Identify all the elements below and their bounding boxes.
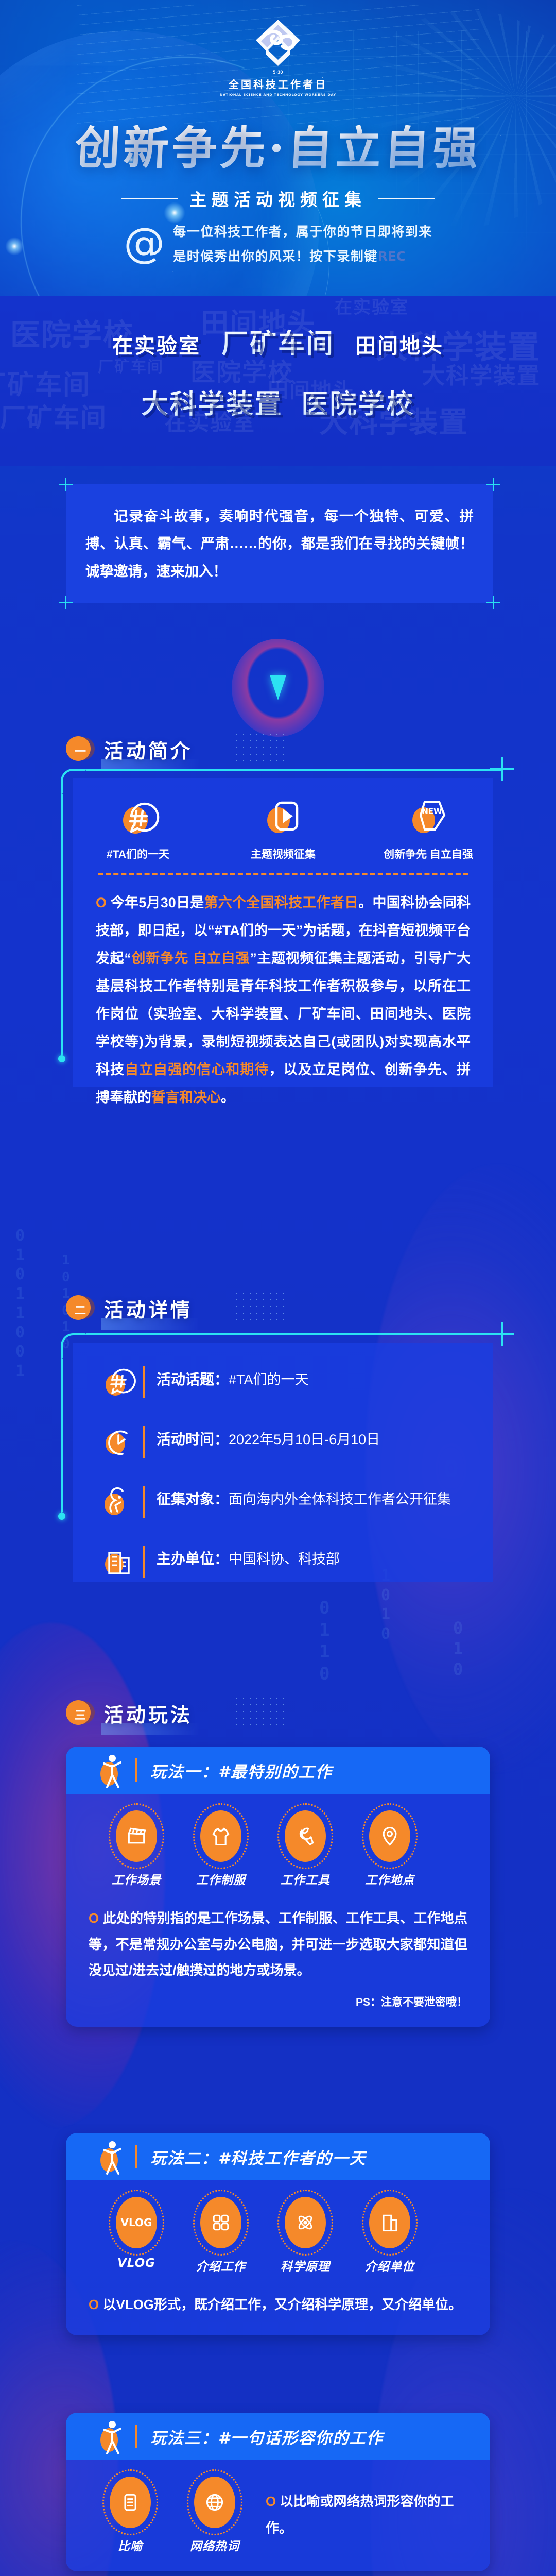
person-raising-hands-icon bbox=[97, 2418, 126, 2454]
section-title: 活动玩法 bbox=[101, 1698, 198, 1731]
section-heading-play: 三 活动玩法 bbox=[66, 1698, 198, 1731]
section-heading-intro: 一 活动简介 bbox=[66, 734, 198, 767]
intro-card: #TA们的一天 主题视频征集 bbox=[61, 769, 503, 1104]
section-number-badge: 三 bbox=[66, 1700, 95, 1729]
corner-mark-icon bbox=[486, 596, 500, 609]
keyword: 厂矿车间 bbox=[221, 322, 335, 361]
hero-block: 创新争先·自立自强 主题活动视频征集 bbox=[0, 124, 556, 211]
play-card-header: 玩法二：#科技工作者的一天 bbox=[66, 2133, 490, 2180]
play-card-title: 玩法一：#最特别的工作 bbox=[150, 1759, 333, 1782]
play-chip-label: VLOG bbox=[117, 2257, 155, 2270]
event-logo: 5·30 全国科技工作者日 NATIONAL SCIENCE AND TECHN… bbox=[0, 18, 556, 97]
dot-grid-decor bbox=[236, 1697, 285, 1727]
invite-line-1: 每一位科技工作者，属于你的节日即将到来 bbox=[173, 222, 432, 240]
building-icon bbox=[369, 2197, 410, 2248]
clapperboard-icon bbox=[116, 1810, 157, 1862]
play-card-header: 玩法一：#最特别的工作 bbox=[66, 1747, 490, 1794]
detail-label: 主办单位： bbox=[157, 1551, 229, 1567]
detail-value: 面向海内外全体科技工作者公开征集 bbox=[229, 1492, 451, 1507]
play-video-icon bbox=[261, 795, 305, 840]
play-chip-label: 工作工具 bbox=[281, 1870, 330, 1888]
new-badge-icon: NEW bbox=[406, 795, 450, 840]
logo-name-en: NATIONAL SCIENCE AND TECHNOLOGY WORKERS … bbox=[220, 93, 336, 97]
play-note-text: 以比喻或网络热词形容你的工作。 bbox=[266, 2494, 454, 2536]
play-chip: 网络热词 bbox=[184, 2477, 245, 2554]
invite-line-2: 是时候秀出你的风采！按下录制键REC bbox=[173, 246, 432, 265]
keyword: 在实验室 bbox=[112, 329, 201, 359]
keyword-row-2: 大科学装置 医院学校 bbox=[0, 382, 556, 421]
scroll-down-badge bbox=[232, 639, 324, 737]
play-chip: 工作工具 bbox=[275, 1810, 336, 1888]
intro-quote-box: 记录奋斗故事，奏响时代强音，每一个独特、可爱、拼搏、认真、霸气、严肃……的你，都… bbox=[66, 484, 493, 603]
bullet-marker: O bbox=[89, 2297, 99, 2312]
ghost-keyword: 在实验室 bbox=[335, 296, 409, 318]
section-number-badge: 一 bbox=[66, 736, 95, 765]
intro-icon-label: #TA们的一天 bbox=[107, 846, 169, 861]
bullet-marker: O bbox=[266, 2494, 276, 2509]
hero-subtitle: 主题活动视频征集 bbox=[189, 186, 367, 211]
intro-part-highlight: 第六个全国科技工作者日 bbox=[204, 895, 359, 910]
person-raising-hands-icon bbox=[97, 1752, 126, 1788]
bullet-marker: O bbox=[89, 1910, 99, 1926]
bullet-marker: O bbox=[96, 895, 107, 910]
play-chip: 科学原理 bbox=[275, 2197, 336, 2274]
detail-value: 2022年5月10日-6月10日 bbox=[229, 1432, 380, 1447]
logo-name-cn: 全国科技工作者日 bbox=[229, 76, 327, 91]
play-chip-label: 工作场景 bbox=[112, 1870, 161, 1888]
detail-value: 中国科协、科技部 bbox=[229, 1551, 340, 1567]
document-lines-icon bbox=[110, 2477, 151, 2528]
play-chip-row: 比喻 网络热词 bbox=[89, 2477, 245, 2554]
section-number: 三 bbox=[66, 1700, 95, 1729]
section-number: 二 bbox=[66, 1295, 95, 1324]
rec-label: REC bbox=[378, 249, 406, 264]
play-chip-label: 工作地点 bbox=[365, 1870, 414, 1888]
intro-icon-label: 创新争先 自立自强 bbox=[384, 846, 473, 861]
vlog-text-icon: VLOG bbox=[116, 2197, 157, 2248]
detail-text: 活动时间：2022年5月10日-6月10日 bbox=[157, 1423, 380, 1451]
detail-label: 活动话题： bbox=[157, 1371, 229, 1387]
person-head-icon bbox=[100, 1483, 138, 1521]
binary-decor: 0 1 0 1 1 0 0 1 bbox=[15, 1226, 26, 1381]
play-card-note: O 此处的特别指的是工作场景、工作制服、工作工具、工作地点等，不是常规办公室与办… bbox=[89, 1905, 467, 1984]
invite-line-2-text: 是时候秀出你的风采！按下录制键 bbox=[173, 249, 378, 264]
corner-mark-icon bbox=[59, 478, 73, 491]
binary-decor: 0 1 0 bbox=[453, 1618, 464, 1680]
section-title: 活动详情 bbox=[101, 1293, 198, 1326]
play-chip-label: 工作制服 bbox=[196, 1870, 246, 1888]
intro-icon-item: NEW 创新争先 自立自强 bbox=[379, 795, 477, 861]
atom-icon bbox=[285, 2197, 326, 2248]
keyword-block: 在实验室 厂矿车间 田间地头 大科学装置 医院学校 bbox=[0, 322, 556, 421]
intro-icon-item: #TA们的一天 bbox=[89, 795, 187, 861]
play-card: 玩法三：#一句话形容你的工作 比喻 网络热词 bbox=[66, 2413, 490, 2571]
intro-part-highlight: 誓言和决心 bbox=[151, 1090, 221, 1105]
wrench-icon bbox=[285, 1810, 326, 1862]
play-chip: 介绍工作 bbox=[190, 2197, 251, 2274]
intro-part-highlight: 自立自强的信心和期待 bbox=[125, 1062, 269, 1077]
science-day-logo-icon bbox=[251, 18, 305, 67]
play-note-text: 此处的特别指的是工作场景、工作制服、工作工具、工作地点等，不是常规办公室与办公电… bbox=[89, 1910, 467, 1978]
page-title: 创新争先·自立自强 bbox=[0, 124, 556, 173]
grid-blocks-icon bbox=[200, 2197, 241, 2248]
intro-paragraph: O 今年5月30日是第六个全国科技工作者日。中国科协会同科技部，即日起，以“#T… bbox=[73, 875, 493, 1111]
play-card: 玩法二：#科技工作者的一天 VLOG VLOG 介绍工作 bbox=[66, 2133, 490, 2335]
keyword: 医院学校 bbox=[302, 382, 415, 421]
keyword: 大科学装置 bbox=[141, 382, 283, 421]
play-chip: 工作制服 bbox=[190, 1810, 251, 1888]
detail-row: 活动话题：#TA们的一天 bbox=[73, 1363, 493, 1401]
section-heading-details: 二 活动详情 bbox=[66, 1293, 198, 1326]
hero-invite-block: @ 每一位科技工作者，属于你的节日即将到来 是时候秀出你的风采！按下录制键REC bbox=[0, 222, 556, 265]
detail-label: 活动时间： bbox=[157, 1431, 229, 1447]
location-pin-icon bbox=[369, 1810, 410, 1862]
logo-date-badge: 5·30 bbox=[273, 70, 283, 75]
play-chip-row: 工作场景 工作制服 工作工具 bbox=[89, 1810, 467, 1888]
rule-right bbox=[378, 198, 435, 199]
section-number-badge: 二 bbox=[66, 1295, 95, 1324]
binary-decor: 0 1 1 0 bbox=[319, 1597, 331, 1685]
play-chip-label: 网络热词 bbox=[190, 2536, 239, 2554]
play-chip-row: VLOG VLOG 介绍工作 科学原理 bbox=[89, 2197, 467, 2274]
detail-row: 主办单位：中国科协、科技部 bbox=[73, 1543, 493, 1581]
play-card-body: VLOG VLOG 介绍工作 科学原理 bbox=[66, 2180, 490, 2335]
detail-label: 征集对象： bbox=[157, 1491, 229, 1507]
keyword-row-1: 在实验室 厂矿车间 田间地头 bbox=[0, 322, 556, 361]
play-chip: VLOG VLOG bbox=[106, 2197, 167, 2274]
intro-part: 今年5月30日是 bbox=[111, 895, 204, 910]
play-chip: 介绍单位 bbox=[359, 2197, 420, 2274]
dot-grid-decor bbox=[236, 733, 285, 763]
play-card-body: 比喻 网络热词 O 以比喻或网络热词形容你的工作。 bbox=[66, 2460, 490, 2571]
dot-grid-decor bbox=[236, 1292, 285, 1322]
play-note-text: 以VLOG形式，既介绍工作，又介绍科学原理，又介绍单位。 bbox=[102, 2297, 462, 2312]
play-card-note: O 以比喻或网络热词形容你的工作。 bbox=[266, 2477, 467, 2541]
details-card: 活动话题：#TA们的一天 活动时间：2022年5月10日-6月10日 bbox=[61, 1333, 503, 1591]
play-chip: 工作场景 bbox=[106, 1810, 167, 1888]
section-number: 一 bbox=[66, 736, 95, 765]
corner-mark-icon bbox=[59, 596, 73, 609]
hero-subtitle-row: 主题活动视频征集 bbox=[0, 186, 556, 211]
play-card-body: 工作场景 工作制服 工作工具 bbox=[66, 1794, 490, 2027]
play-card-ps: PS：注意不要泄密哦！ bbox=[89, 1994, 467, 2009]
intro-quote-text: 记录奋斗故事，奏响时代强音，每一个独特、可爱、拼搏、认真、霸气、严肃……的你，都… bbox=[85, 502, 474, 585]
at-symbol-icon: @ bbox=[124, 223, 165, 264]
play-card-header: 玩法三：#一句话形容你的工作 bbox=[66, 2413, 490, 2460]
play-card-title: 玩法三：#一句话形容你的工作 bbox=[150, 2425, 384, 2448]
detail-row: 活动时间：2022年5月10日-6月10日 bbox=[73, 1423, 493, 1461]
intro-icon-row: #TA们的一天 主题视频征集 bbox=[73, 778, 493, 861]
keyword: 田间地头 bbox=[355, 329, 444, 359]
chevron-down-icon bbox=[270, 675, 286, 700]
intro-part: 。 bbox=[221, 1090, 235, 1105]
intro-part: ”主题视频征集主题活动，引导广大基层科技工作者特别是青年科技工作者积极参与，以所… bbox=[96, 951, 471, 1077]
intro-icon-label: 主题视频征集 bbox=[251, 846, 316, 861]
detail-text: 征集对象：面向海内外全体科技工作者公开征集 bbox=[157, 1483, 451, 1511]
intro-part-highlight: 创新争先 自立自强 bbox=[131, 951, 250, 966]
corner-mark-icon bbox=[486, 478, 500, 491]
detail-row: 征集对象：面向海内外全体科技工作者公开征集 bbox=[73, 1483, 493, 1521]
person-raising-hands-icon bbox=[97, 2139, 126, 2175]
play-card-note: O 以VLOG形式，既介绍工作，又介绍科学原理，又介绍单位。 bbox=[89, 2292, 467, 2318]
detail-text: 活动话题：#TA们的一天 bbox=[157, 1363, 309, 1391]
intro-icon-item: 主题视频征集 bbox=[234, 795, 332, 861]
rule-left bbox=[121, 198, 178, 199]
detail-value: #TA们的一天 bbox=[229, 1372, 309, 1387]
detail-text: 主办单位：中国科协、科技部 bbox=[157, 1543, 340, 1570]
hashtag-bubble-icon bbox=[100, 1363, 138, 1401]
play-chip-label: 介绍单位 bbox=[365, 2257, 414, 2274]
play-card-title: 玩法二：#科技工作者的一天 bbox=[150, 2145, 367, 2168]
play-chip: 比喻 bbox=[100, 2477, 161, 2554]
building-icon bbox=[100, 1543, 138, 1581]
globe-icon bbox=[194, 2477, 235, 2528]
svg-text:NEW: NEW bbox=[422, 807, 442, 816]
hashtag-bubble-icon bbox=[116, 795, 160, 840]
tshirt-icon bbox=[200, 1810, 241, 1862]
clock-icon bbox=[100, 1423, 138, 1461]
play-chip-label: 介绍工作 bbox=[196, 2257, 246, 2274]
play-chip-label: 比喻 bbox=[118, 2536, 143, 2554]
play-card: 玩法一：#最特别的工作 工作场景 工作制服 bbox=[66, 1747, 490, 2027]
play-chip: 工作地点 bbox=[359, 1810, 420, 1888]
section-title: 活动简介 bbox=[101, 734, 198, 767]
play-chip-label: 科学原理 bbox=[281, 2257, 330, 2274]
